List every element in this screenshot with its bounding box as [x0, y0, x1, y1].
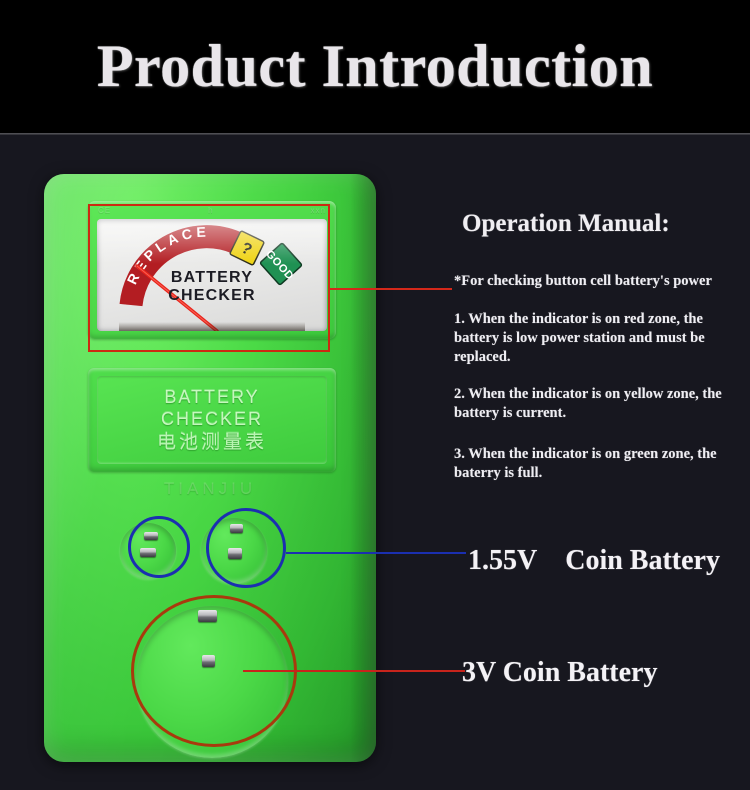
- nameplate-inner: BATTERY CHECKER 电池测量表: [97, 376, 327, 464]
- operation-manual-title: Operation Manual:: [462, 210, 670, 238]
- annotation-rect-meter: [88, 204, 330, 352]
- nameplate-line-chinese: 电池测量表: [157, 431, 267, 455]
- annotation-circle-small-well-right: [206, 508, 286, 588]
- leader-line-3v: [243, 670, 465, 672]
- nameplate: BATTERY CHECKER 电池测量表: [88, 368, 336, 472]
- manual-note: *For checking button cell battery's powe…: [454, 272, 746, 291]
- leader-line-155v: [286, 552, 466, 554]
- page-title: Product Introduction: [97, 36, 653, 96]
- manual-step-3: 3. When the indicator is on green zone, …: [454, 445, 746, 483]
- product-introduction-image: Product Introduction CE h xxn: [0, 0, 750, 790]
- leader-line-meter: [330, 288, 452, 290]
- manual-step-2: 2. When the indicator is on yellow zone,…: [454, 385, 746, 423]
- manual-step-1: 1. When the indicator is on red zone, th…: [454, 310, 746, 367]
- callout-155v-value: 1.55V: [468, 545, 537, 576]
- callout-label-3v: 3V Coin Battery: [462, 657, 657, 689]
- header-band: Product Introduction: [0, 0, 750, 133]
- brand-emboss: TIANJIU: [44, 479, 376, 499]
- annotation-circle-small-well-left: [128, 516, 190, 578]
- nameplate-line2: CHECKER: [161, 408, 263, 430]
- callout-label-155v: 1.55VCoin Battery: [468, 545, 720, 577]
- callout-155v-text: Coin Battery: [565, 545, 720, 576]
- device-edge-shadow: [350, 174, 376, 762]
- nameplate-line1: BATTERY: [164, 386, 259, 408]
